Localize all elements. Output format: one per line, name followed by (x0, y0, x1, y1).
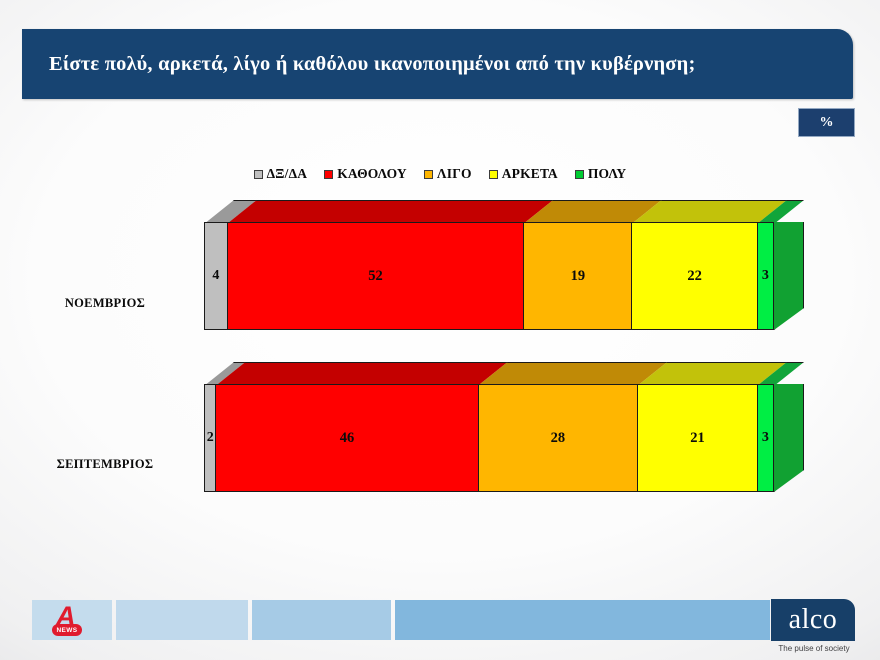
legend-item[interactable]: ΔΞ/ΔΑ (254, 166, 308, 182)
bar-segment-value: 2 (207, 430, 214, 446)
stacked-bar-3d: 45219223 (204, 200, 804, 340)
anews-logo: A NEWS (50, 604, 96, 638)
bar-segment[interactable]: 46 (215, 384, 477, 492)
bar-segment-top (215, 362, 507, 386)
anews-badge: NEWS (52, 624, 82, 636)
bar-front-faces: 45219223 (204, 222, 774, 330)
legend-swatch-icon (254, 170, 263, 179)
legend-item-label: ΔΞ/ΔΑ (267, 166, 308, 182)
chart-legend: ΔΞ/ΔΑΚΑΘΟΛΟΥΛΙΓΟΑΡΚΕΤΑΠΟΛΥ (0, 166, 880, 182)
category-label: ΝΟΕΜΒΡΙΟΣ (25, 296, 185, 311)
chart-plot-area: ΝΟΕΜΒΡΙΟΣ45219223ΣΕΠΤΕΜΒΡΙΟΣ24628213 (0, 190, 880, 520)
slide-footer: A NEWS alco The pulse of society (0, 586, 880, 660)
bar-segment[interactable]: 52 (227, 222, 523, 330)
legend-swatch-icon (424, 170, 433, 179)
bar-segment[interactable]: 28 (478, 384, 638, 492)
percent-unit-label: % (820, 115, 834, 131)
footer-bar-4 (395, 600, 770, 640)
alco-logo: alco (771, 599, 855, 641)
bar-front-faces: 24628213 (204, 384, 774, 492)
bar-segment[interactable]: 3 (757, 384, 774, 492)
bar-segment-value: 28 (551, 430, 566, 447)
bar-side-face (774, 222, 804, 330)
slide-canvas: Είστε πολύ, αρκετά, λίγο ή καθόλου ικανο… (0, 0, 880, 660)
legend-swatch-icon (575, 170, 584, 179)
legend-item[interactable]: ΚΑΘΟΛΟΥ (324, 166, 407, 182)
bar-segment-value: 3 (762, 268, 769, 284)
footer-bar-3 (252, 600, 391, 640)
stacked-bar-3d: 24628213 (204, 362, 804, 502)
legend-item[interactable]: ΑΡΚΕΤΑ (489, 166, 558, 182)
category-label: ΣΕΠΤΕΜΒΡΙΟΣ (25, 457, 185, 472)
page-title: Είστε πολύ, αρκετά, λίγο ή καθόλου ικανο… (49, 29, 839, 99)
bar-segment-value: 46 (340, 430, 355, 447)
bar-segment-top (478, 362, 668, 386)
legend-item[interactable]: ΠΟΛΥ (575, 166, 627, 182)
bar-segment-value: 22 (687, 268, 702, 285)
percent-unit-badge: % (798, 108, 855, 137)
bar-segment[interactable]: 4 (204, 222, 227, 330)
legend-item[interactable]: ΛΙΓΟ (424, 166, 472, 182)
alco-logo-text: alco (789, 606, 838, 634)
bar-segment-top (227, 200, 553, 224)
bar-segment[interactable]: 3 (757, 222, 774, 330)
bar-side-face (774, 384, 804, 492)
legend-item-label: ΚΑΘΟΛΟΥ (337, 166, 407, 182)
bar-segment[interactable]: 19 (523, 222, 631, 330)
bar-segment-value: 52 (368, 268, 383, 285)
legend-item-label: ΠΟΛΥ (588, 166, 627, 182)
bar-segment-value: 21 (690, 430, 705, 447)
legend-swatch-icon (324, 170, 333, 179)
bar-segment[interactable]: 21 (637, 384, 757, 492)
bar-segment-value: 19 (571, 268, 586, 285)
legend-item-label: ΛΙΓΟ (437, 166, 472, 182)
bar-segment-value: 4 (212, 268, 219, 284)
legend-swatch-icon (489, 170, 498, 179)
bar-segment[interactable]: 2 (204, 384, 215, 492)
alco-tagline: The pulse of society (768, 644, 860, 653)
title-banner: Είστε πολύ, αρκετά, λίγο ή καθόλου ικανο… (22, 29, 853, 99)
legend-item-label: ΑΡΚΕΤΑ (502, 166, 558, 182)
bar-top-faces (204, 362, 804, 385)
bar-top-faces (204, 200, 804, 223)
bar-segment[interactable]: 22 (631, 222, 756, 330)
bar-segment-value: 3 (762, 430, 769, 446)
footer-bar-2 (116, 600, 248, 640)
